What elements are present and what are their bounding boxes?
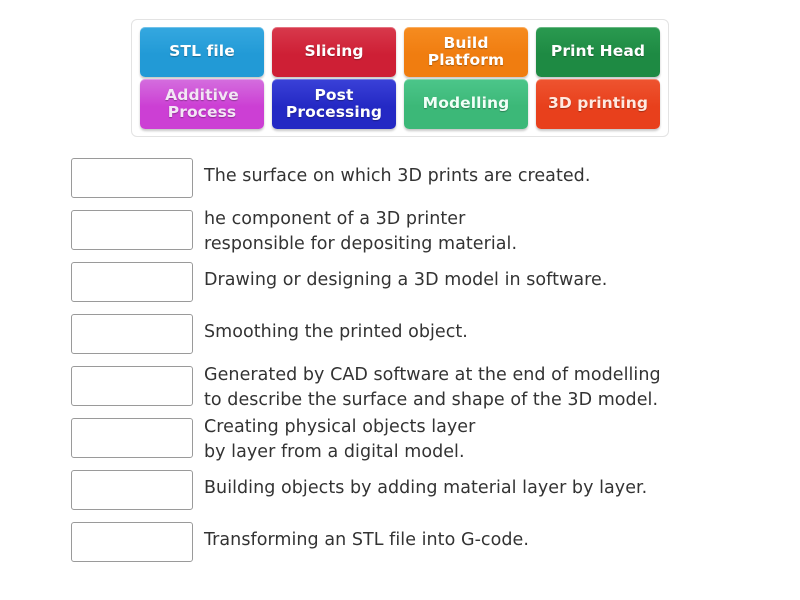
answer-row: Building objects by adding material laye…: [71, 467, 771, 519]
answer-definition: Drawing or designing a 3D model in softw…: [204, 259, 607, 293]
word-tile-stl-file[interactable]: STL file: [140, 27, 264, 77]
answer-drop-box[interactable]: [71, 314, 193, 354]
answer-definition: Transforming an STL file into G-code.: [204, 519, 529, 553]
word-tile-label: 3D printing: [548, 95, 648, 112]
answer-drop-box[interactable]: [71, 470, 193, 510]
answer-definition: The surface on which 3D prints are creat…: [204, 155, 590, 189]
answer-drop-box[interactable]: [71, 262, 193, 302]
answer-row: Drawing or designing a 3D model in softw…: [71, 259, 771, 311]
answer-drop-box[interactable]: [71, 418, 193, 458]
answer-row: he component of a 3D printer responsible…: [71, 207, 771, 259]
word-tile-label: STL file: [169, 43, 235, 60]
word-tile-label: Modelling: [423, 95, 510, 112]
answer-definition: Generated by CAD software at the end of …: [204, 363, 661, 413]
word-bank-row-2: Additive Process Post Processing Modelli…: [140, 79, 660, 129]
word-bank-row-1: STL file Slicing Build Platform Print He…: [140, 27, 660, 77]
word-tile-build-platform[interactable]: Build Platform: [404, 27, 528, 77]
answer-row: The surface on which 3D prints are creat…: [71, 155, 771, 207]
answer-definition: Building objects by adding material laye…: [204, 467, 647, 501]
word-tile-label: Additive Process: [165, 87, 239, 122]
word-tile-print-head[interactable]: Print Head: [536, 27, 660, 77]
word-tile-modelling[interactable]: Modelling: [404, 79, 528, 129]
answer-row: Smoothing the printed object.: [71, 311, 771, 363]
answer-drop-box[interactable]: [71, 210, 193, 250]
word-tile-3d-printing[interactable]: 3D printing: [536, 79, 660, 129]
answer-drop-box[interactable]: [71, 366, 193, 406]
answer-row: Generated by CAD software at the end of …: [71, 363, 771, 415]
word-tile-label: Slicing: [304, 43, 363, 60]
word-tile-label: Build Platform: [428, 35, 505, 70]
answer-row: Transforming an STL file into G-code.: [71, 519, 771, 571]
word-tile-label: Print Head: [551, 43, 645, 60]
answer-definition: Creating physical objects layer by layer…: [204, 415, 475, 465]
answer-row: Creating physical objects layer by layer…: [71, 415, 771, 467]
answer-drop-box[interactable]: [71, 158, 193, 198]
answer-definition: he component of a 3D printer responsible…: [204, 207, 517, 257]
word-tile-additive-process[interactable]: Additive Process: [140, 79, 264, 129]
word-tile-post-processing[interactable]: Post Processing: [272, 79, 396, 129]
word-tile-label: Post Processing: [286, 87, 382, 122]
answer-definition: Smoothing the printed object.: [204, 311, 468, 345]
word-tile-slicing[interactable]: Slicing: [272, 27, 396, 77]
word-bank-panel: STL file Slicing Build Platform Print He…: [131, 19, 669, 137]
answer-drop-box[interactable]: [71, 522, 193, 562]
answer-list: The surface on which 3D prints are creat…: [71, 155, 771, 571]
